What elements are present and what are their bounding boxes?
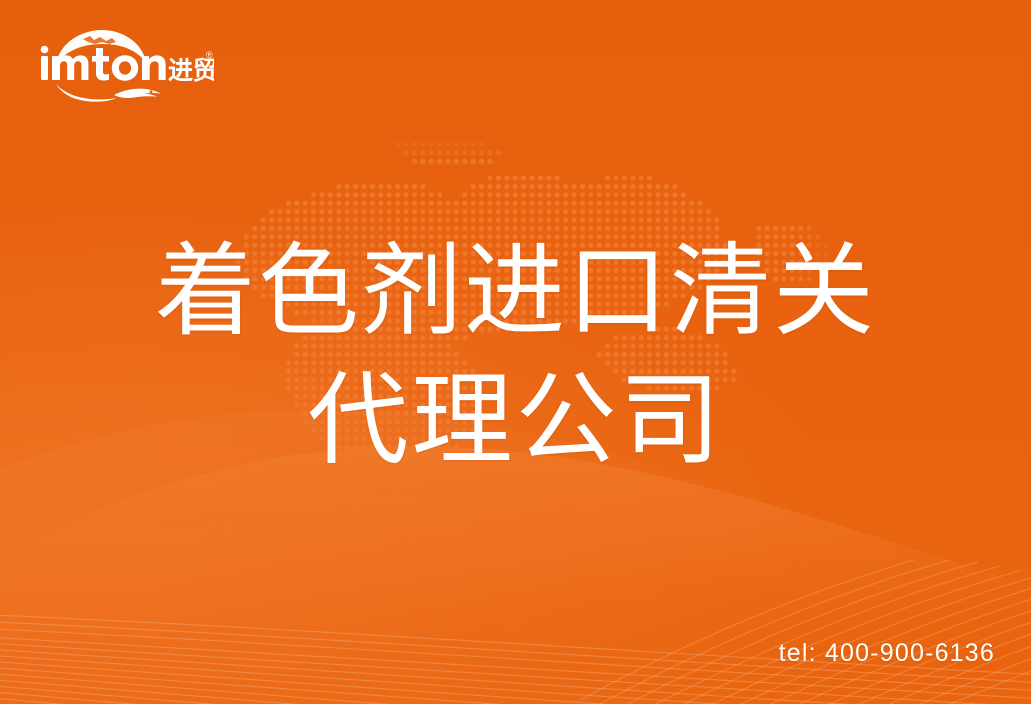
- logo-wordmark: [41, 46, 166, 81]
- logo-trademark-symbol: ®: [206, 50, 213, 60]
- company-logo[interactable]: 进贸通 ®: [38, 28, 214, 102]
- page-title: 着色剂进口清关 代理公司: [0, 228, 1031, 487]
- banner-root: 进贸通 ® 着色剂进口清关 代理公司 tel: 400-900-6136: [0, 0, 1031, 704]
- page-title-line-2: 代理公司: [0, 357, 1031, 486]
- logo-svg: 进贸通 ®: [38, 28, 214, 102]
- dragon-swoosh-icon: [56, 84, 161, 102]
- logo-chinese-name: 进贸通: [168, 56, 214, 85]
- contact-phone[interactable]: tel: 400-900-6136: [779, 639, 995, 668]
- page-title-line-1: 着色剂进口清关: [0, 228, 1031, 357]
